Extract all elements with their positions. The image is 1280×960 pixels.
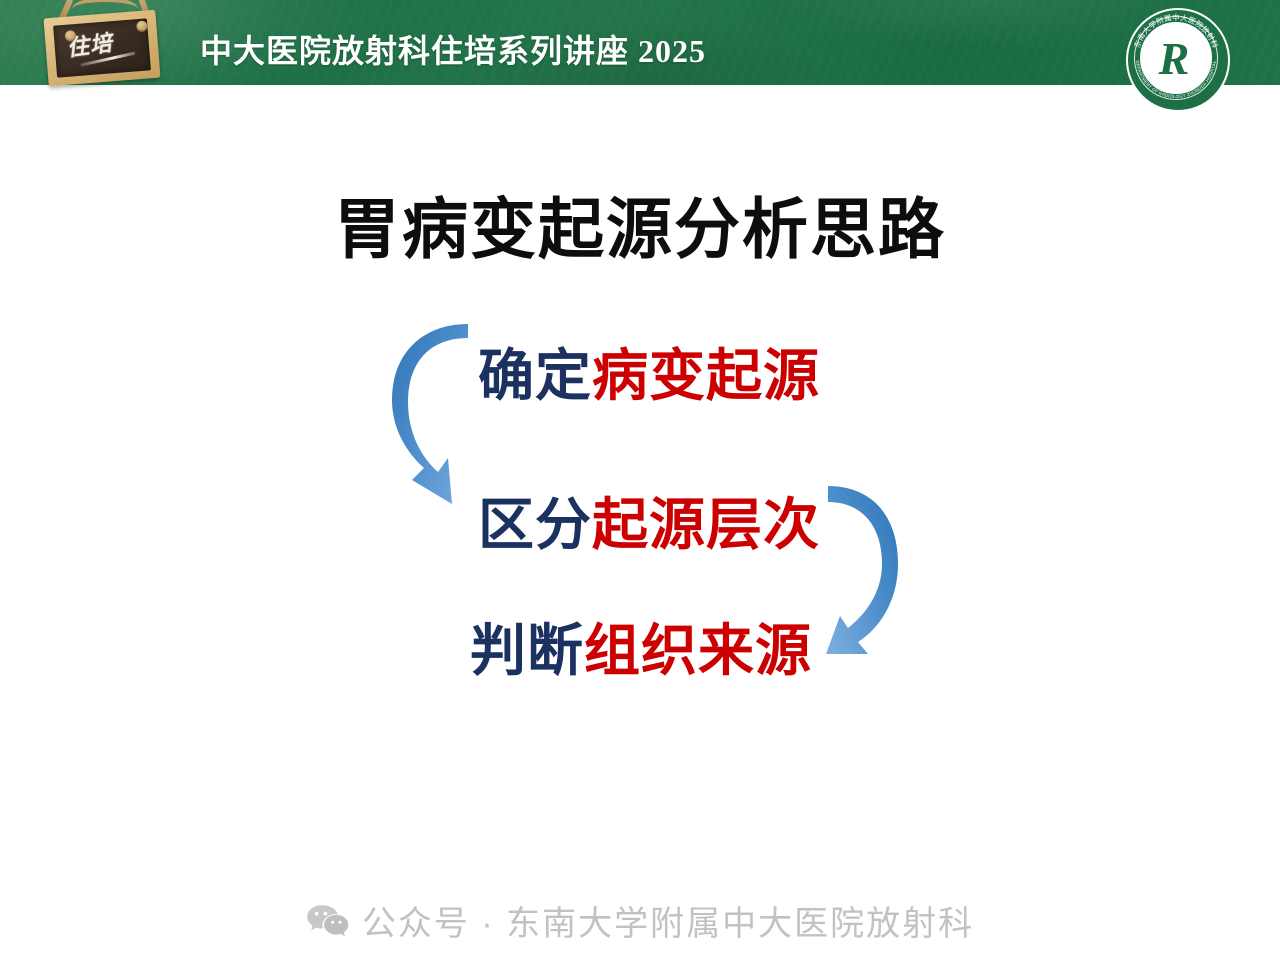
flow-arrow-1-icon xyxy=(390,318,510,518)
chalkboard-sign: 住培 xyxy=(34,2,164,86)
flow-arrow-2-icon xyxy=(822,478,942,663)
slide-canvas: 住培 中大医院放射科住培系列讲座 2025 东南大学附属中大医院放射科 DEPA… xyxy=(0,0,1280,960)
page-title: 胃病变起源分析思路 xyxy=(0,176,1280,272)
step-line-2: 区分起源层次 xyxy=(478,480,820,561)
chalkboard-frame: 住培 xyxy=(44,10,161,87)
step-3-highlight: 组织来源 xyxy=(584,619,812,682)
flow-arrow-1-shape xyxy=(392,324,468,504)
wechat-back-eye-left xyxy=(315,911,319,915)
header-title: 中大医院放射科住培系列讲座 2025 xyxy=(200,26,706,72)
step-line-1: 确定病变起源 xyxy=(478,331,820,412)
footer: 公众号 · 东南大学附属中大医院放射科 xyxy=(0,896,1280,945)
wechat-bubble-front xyxy=(324,914,348,935)
step-1-highlight: 病变起源 xyxy=(592,344,820,407)
department-logo: 东南大学附属中大医院放射科 DEPARTMENT OF RADIOLOGY ZH… xyxy=(1126,8,1230,112)
wechat-back-eye-right xyxy=(323,911,327,915)
footer-account-text: 公众号 · 东南大学附属中大医院放射科 xyxy=(362,896,974,945)
wechat-icon xyxy=(306,904,350,938)
step-line-3: 判断组织来源 xyxy=(470,606,812,687)
logo-monogram-r: R xyxy=(1126,8,1222,108)
flow-arrow-2-shape xyxy=(826,486,898,654)
chalkboard-rope-top xyxy=(72,0,138,9)
wechat-front-eye-right xyxy=(338,920,341,923)
step-3-prefix: 判断 xyxy=(470,619,584,682)
step-2-highlight: 起源层次 xyxy=(592,493,820,556)
wechat-front-eye-left xyxy=(331,920,334,923)
